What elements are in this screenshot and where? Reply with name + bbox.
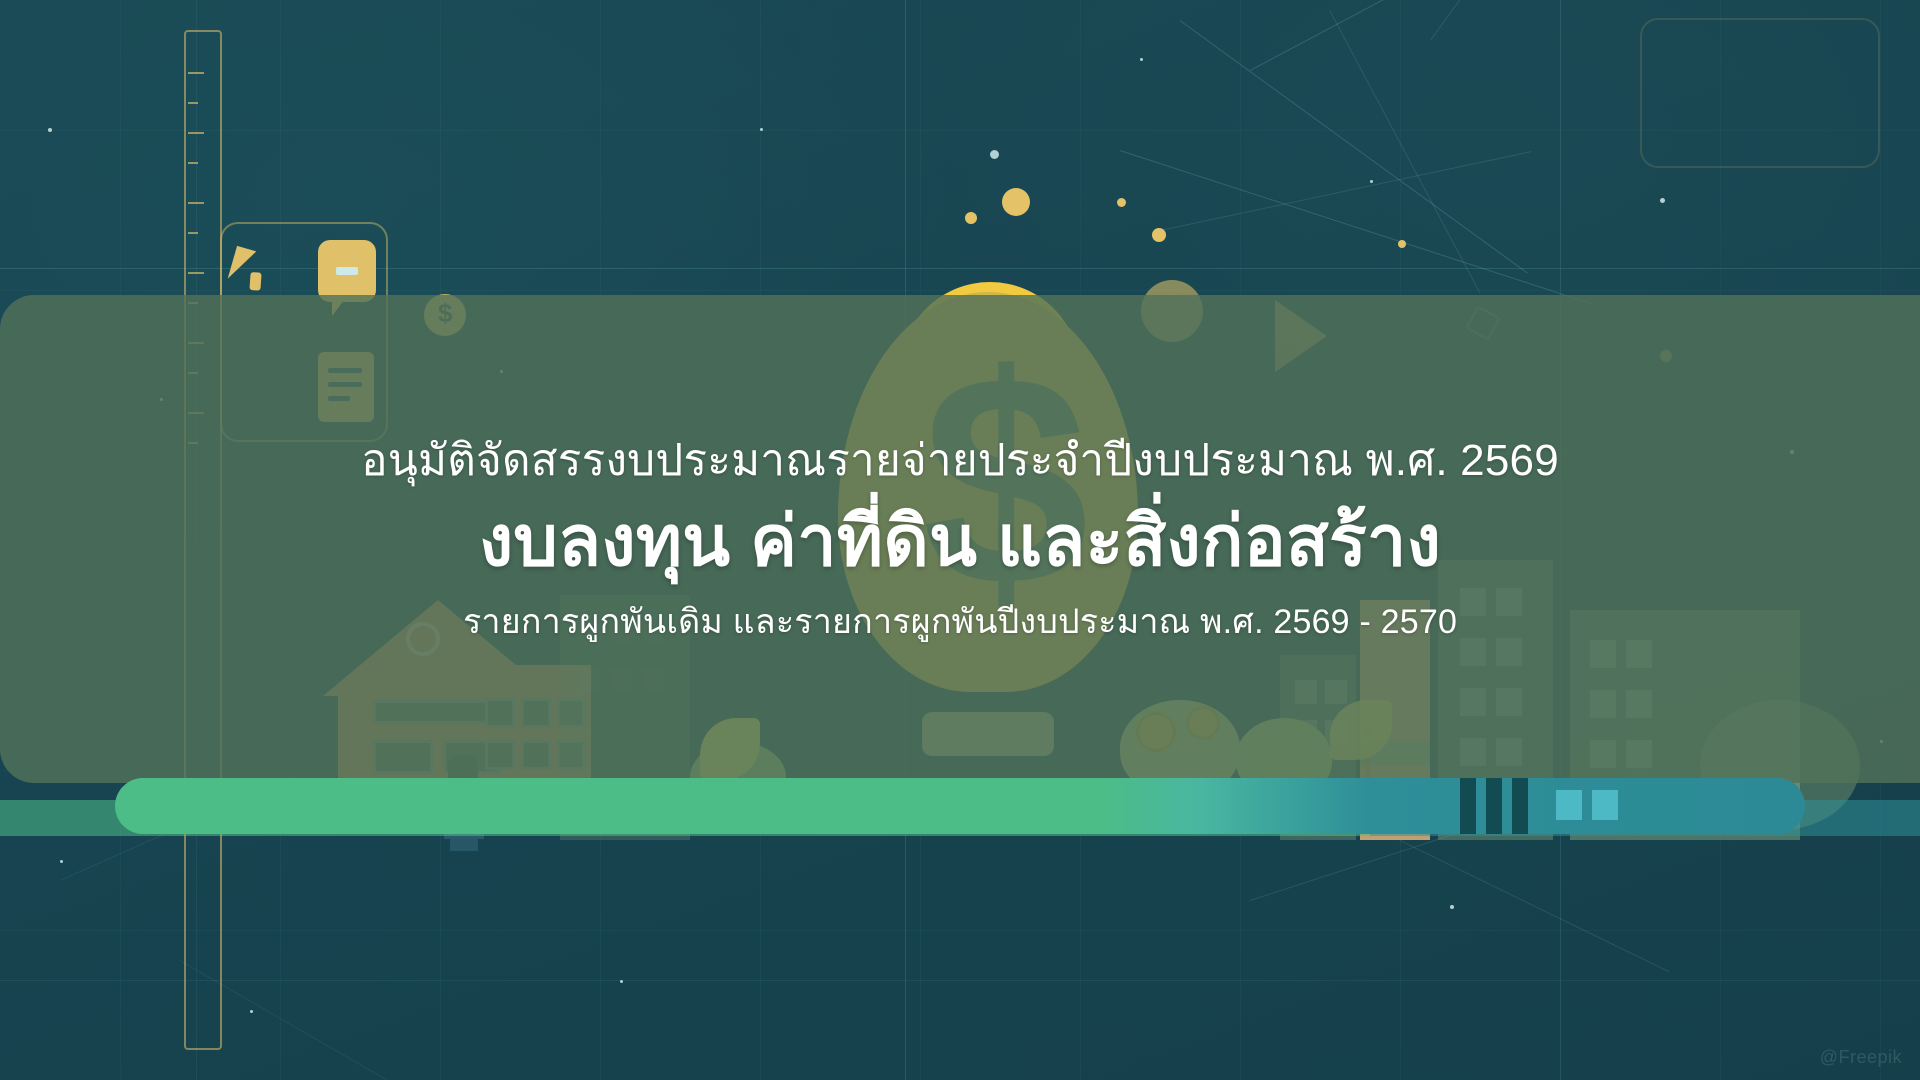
poster-canvas: $ $ [0,0,1920,1080]
bottom-accent-bar [115,778,1805,834]
title-banner: อนุมัติจัดสรรงบประมาณรายจ่ายประจำปีงบประ… [0,295,1920,783]
banner-subline: รายการผูกพันเดิม และรายการผูกพันปีงบประม… [463,601,1457,644]
watermark: @Freepik [1820,1047,1902,1068]
banner-headline: งบลงทุน ค่าที่ดิน และสิ่งก่อสร้าง [479,499,1441,584]
banner-kicker: อนุมัติจัดสรรงบประมาณรายจ่ายประจำปีงบประ… [361,435,1559,488]
